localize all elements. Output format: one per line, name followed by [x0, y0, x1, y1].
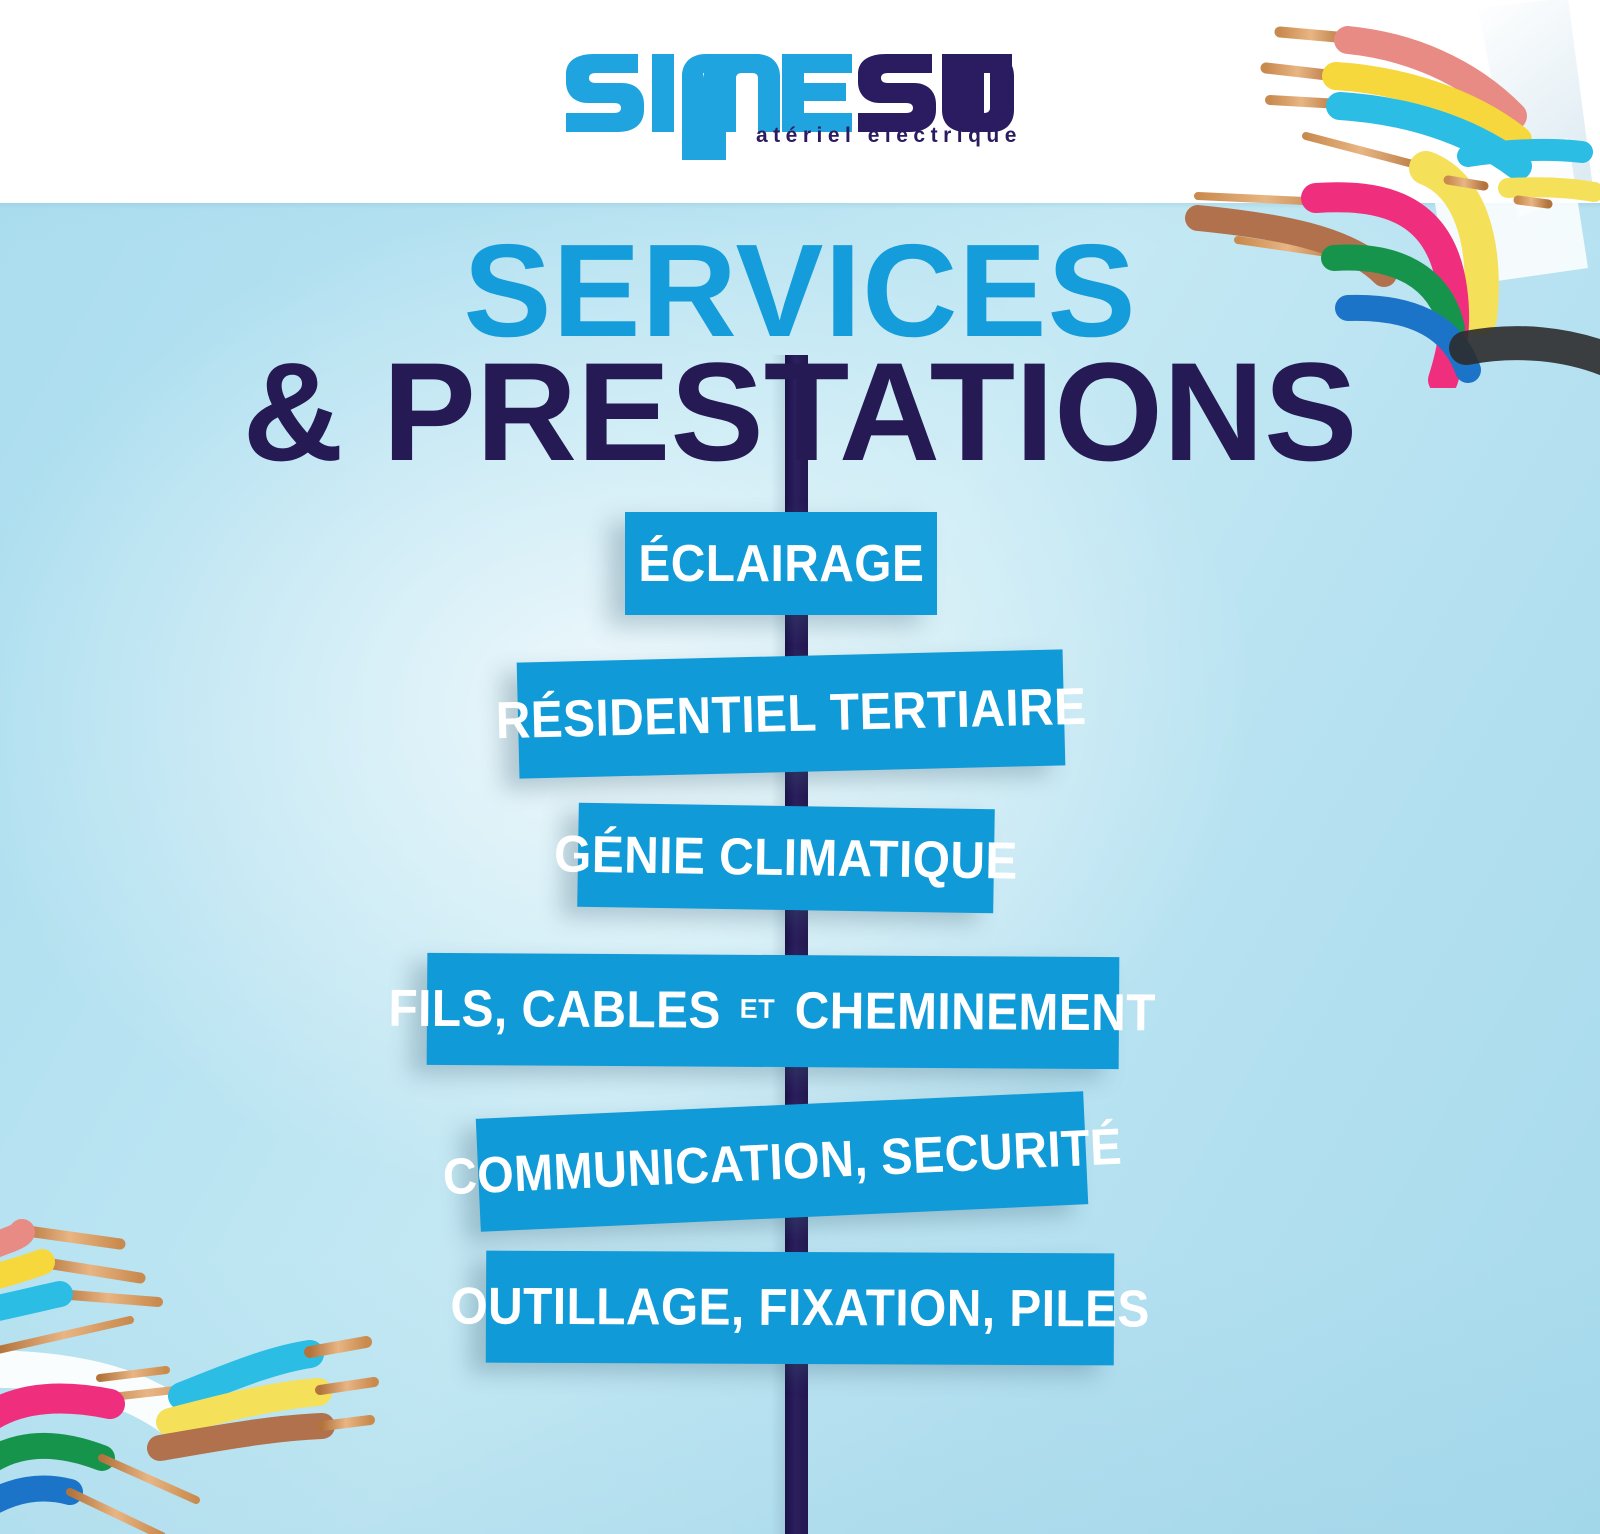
service-banner-label: COMMUNICATION, SECURITÉ — [441, 1117, 1123, 1207]
poster-canvas: atériel électrique SERVICES & PRESTATION… — [0, 0, 1600, 1534]
service-banner-residentiel-tertiaire[interactable]: RÉSIDENTIEL TERTIAIRE — [517, 649, 1066, 778]
service-banner-outillage-fixation-piles[interactable]: OUTILLAGE, FIXATION, PILES — [486, 1251, 1114, 1366]
services-banner-list: ÉCLAIRAGE RÉSIDENTIEL TERTIAIRE GÉNIE CL… — [0, 0, 1600, 1534]
service-banner-label: RÉSIDENTIEL TERTIAIRE — [495, 677, 1087, 751]
service-banner-genie-climatique[interactable]: GÉNIE CLIMATIQUE — [577, 803, 995, 914]
service-banner-label-et: ET — [736, 993, 780, 1024]
service-banner-communication-securite[interactable]: COMMUNICATION, SECURITÉ — [476, 1091, 1089, 1231]
service-banner-label-pre: FILS, CABLES — [389, 979, 722, 1041]
service-banner-label: ÉCLAIRAGE — [638, 534, 924, 594]
service-banner-label: GÉNIE CLIMATIQUE — [554, 824, 1019, 891]
service-banner-fils-cables-cheminement[interactable]: FILS, CABLES ET CHEMINEMENT — [427, 953, 1120, 1069]
service-banner-label: OUTILLAGE, FIXATION, PILES — [450, 1276, 1150, 1339]
service-banner-label-post: CHEMINEMENT — [795, 981, 1157, 1043]
service-banner-eclairage[interactable]: ÉCLAIRAGE — [625, 512, 937, 615]
